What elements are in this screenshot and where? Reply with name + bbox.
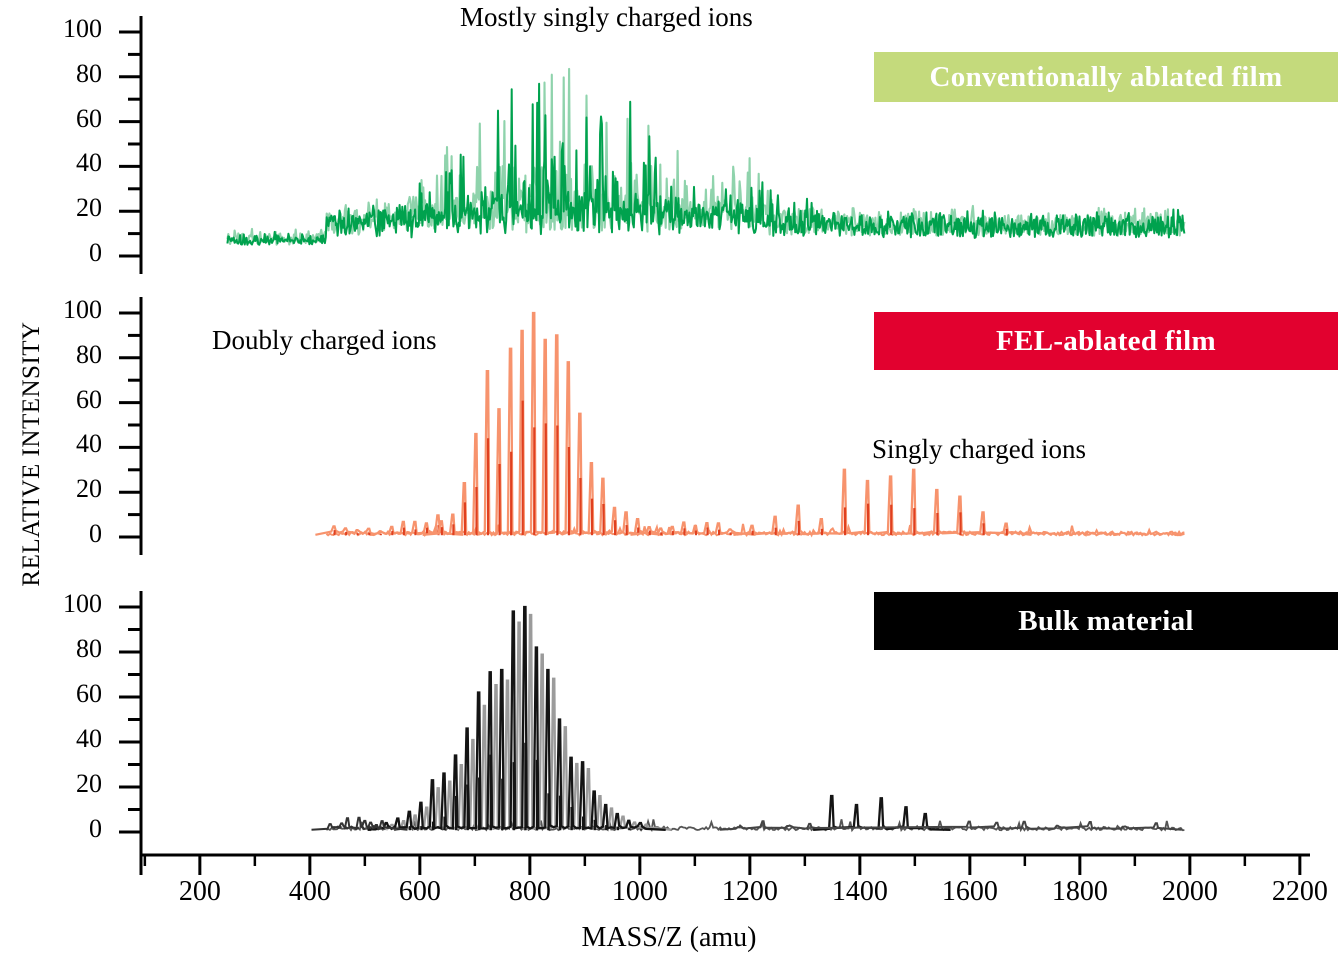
annotation-singly-charged-ions: Singly charged ions: [872, 434, 1086, 465]
y-tick-p2-40: 40: [30, 724, 102, 754]
y-tick-p0-80: 80: [30, 59, 102, 89]
y-tick-p0-40: 40: [30, 148, 102, 178]
x-tick-2000: 2000: [1135, 876, 1245, 908]
annotation-doubly-charged-ions: Doubly charged ions: [212, 325, 436, 356]
y-tick-p2-0: 0: [30, 814, 102, 844]
y-tick-p0-20: 20: [30, 193, 102, 223]
x-tick-1000: 1000: [585, 876, 695, 908]
y-tick-p2-60: 60: [30, 679, 102, 709]
trace-peaks: [813, 796, 951, 830]
x-tick-600: 600: [365, 876, 475, 908]
x-tick-2200: 2200: [1245, 876, 1338, 908]
y-tick-p1-0: 0: [30, 519, 102, 549]
y-tick-p1-100: 100: [30, 295, 102, 325]
y-tick-p1-80: 80: [30, 340, 102, 370]
x-axis-label: MASS/Z (amu): [0, 922, 1338, 954]
x-tick-200: 200: [145, 876, 255, 908]
y-tick-p2-80: 80: [30, 634, 102, 664]
y-tick-p0-60: 60: [30, 104, 102, 134]
x-tick-800: 800: [475, 876, 585, 908]
y-tick-p1-20: 20: [30, 474, 102, 504]
y-tick-p1-40: 40: [30, 429, 102, 459]
trace-peaks: [423, 313, 663, 535]
legend-label-2: Bulk material: [1018, 605, 1193, 638]
mass-spectrum-figure: RELATIVE INTENSITY MASS/Z (amu) 20040060…: [0, 0, 1338, 969]
y-tick-p2-100: 100: [30, 589, 102, 619]
legend-fel-ablated-film[interactable]: FEL-ablated film: [874, 312, 1338, 370]
y-tick-p0-0: 0: [30, 238, 102, 268]
legend-label-0: Conventionally ablated film: [930, 61, 1283, 94]
x-tick-1200: 1200: [695, 876, 805, 908]
x-tick-1800: 1800: [1025, 876, 1135, 908]
annotation-mostly-singly-charged-ions: Mostly singly charged ions: [460, 2, 753, 33]
trace-peaks: [733, 470, 1031, 535]
legend-label-1: FEL-ablated film: [996, 325, 1216, 358]
y-tick-p0-100: 100: [30, 14, 102, 44]
x-tick-400: 400: [255, 876, 365, 908]
x-tick-1400: 1400: [805, 876, 915, 908]
y-tick-p2-20: 20: [30, 769, 102, 799]
x-tick-1600: 1600: [915, 876, 1025, 908]
legend-bulk-material[interactable]: Bulk material: [874, 592, 1338, 650]
legend-conventionally-ablated-film[interactable]: Conventionally ablated film: [874, 52, 1338, 102]
y-tick-p1-60: 60: [30, 385, 102, 415]
plot-canvas: [0, 0, 1338, 969]
